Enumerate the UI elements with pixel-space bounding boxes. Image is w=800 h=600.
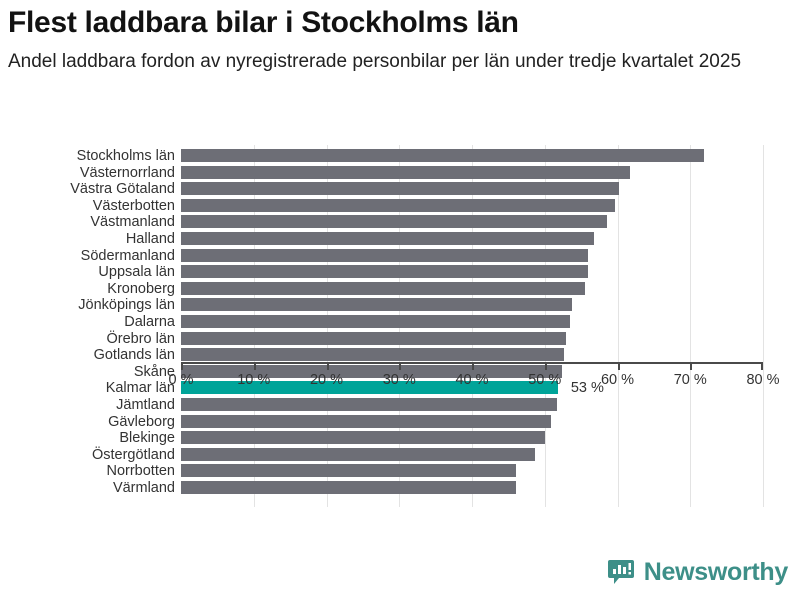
- x-axis-tick-label: 30 %: [383, 372, 416, 388]
- x-axis-tick: [690, 362, 692, 370]
- bar-kronoberg[interactable]: [181, 282, 585, 295]
- x-axis-tick-label: 50 %: [528, 372, 561, 388]
- bar-södermanland[interactable]: [181, 249, 588, 262]
- y-axis-label: Blekinge: [0, 430, 175, 446]
- y-axis-label: Uppsala län: [0, 264, 175, 280]
- y-axis-label: Södermanland: [0, 248, 175, 264]
- x-axis-tick: [327, 362, 329, 370]
- y-axis-label: Skåne: [0, 364, 175, 380]
- chart-plot-area: Stockholms länVästernorrlandVästra Götal…: [0, 145, 800, 545]
- y-axis-label: Västerbotten: [0, 198, 175, 214]
- y-axis-label: Kronoberg: [0, 281, 175, 297]
- bar-gävleborg[interactable]: [181, 415, 551, 428]
- y-axis-label: Halland: [0, 231, 175, 247]
- chart-header: Flest laddbara bilar i Stockholms län An…: [8, 6, 798, 75]
- bar-örebro-län[interactable]: [181, 332, 566, 345]
- x-axis-tick: [472, 362, 474, 370]
- x-axis-tick-label: 40 %: [455, 372, 488, 388]
- bar-stockholms-län[interactable]: [181, 149, 704, 162]
- bar-jönköpings-län[interactable]: [181, 298, 572, 311]
- bar-uppsala-län[interactable]: [181, 265, 588, 278]
- y-axis-label: Värmland: [0, 480, 175, 496]
- y-axis-label: Kalmar län: [0, 380, 175, 396]
- y-axis-label: Västra Götaland: [0, 181, 175, 197]
- x-axis-tick-label: 80 %: [746, 372, 779, 388]
- chart-page: Flest laddbara bilar i Stockholms län An…: [0, 0, 800, 600]
- x-axis-tick-label: 10 %: [237, 372, 270, 388]
- x-axis-tick-label: 60 %: [601, 372, 634, 388]
- bar-västmanland[interactable]: [181, 215, 607, 228]
- bar-chart-speech-bubble-icon: [607, 558, 635, 586]
- x-axis-tick-label: 70 %: [674, 372, 707, 388]
- y-axis-label: Norrbotten: [0, 463, 175, 479]
- bar-gotlands-län[interactable]: [181, 348, 564, 361]
- bars-container: 53 %: [181, 145, 763, 507]
- gridline: [690, 145, 691, 507]
- y-axis-labels: Stockholms länVästernorrlandVästra Götal…: [0, 145, 175, 507]
- newsworthy-logo: Newsworthy: [607, 558, 788, 586]
- x-axis-tick: [399, 362, 401, 370]
- bar-östergötland[interactable]: [181, 448, 535, 461]
- x-axis-tick: [618, 362, 620, 370]
- bar-jämtland[interactable]: [181, 398, 557, 411]
- y-axis-label: Gävleborg: [0, 414, 175, 430]
- page-title: Flest laddbara bilar i Stockholms län: [8, 6, 798, 40]
- gridline: [618, 145, 619, 507]
- bar-västra-götaland[interactable]: [181, 182, 619, 195]
- y-axis-label: Västmanland: [0, 214, 175, 230]
- chart-subtitle: Andel laddbara fordon av nyregistrerade …: [8, 48, 798, 75]
- x-axis-tick: [761, 362, 763, 370]
- bar-blekinge[interactable]: [181, 431, 545, 444]
- x-axis-tick: [181, 362, 183, 370]
- x-axis-tick-label: 20 %: [310, 372, 343, 388]
- gridline: [763, 145, 764, 507]
- bar-dalarna[interactable]: [181, 315, 570, 328]
- x-axis-tick: [545, 362, 547, 370]
- bar-halland[interactable]: [181, 232, 594, 245]
- bar-norrbotten[interactable]: [181, 464, 516, 477]
- bar-value-label: 53 %: [571, 382, 604, 395]
- y-axis-label: Stockholms län: [0, 148, 175, 164]
- y-axis-label: Gotlands län: [0, 347, 175, 363]
- bar-västernorrland[interactable]: [181, 166, 630, 179]
- bar-värmland[interactable]: [181, 481, 516, 494]
- y-axis-label: Dalarna: [0, 314, 175, 330]
- bar-västerbotten[interactable]: [181, 199, 615, 212]
- x-axis-tick-label: 0 %: [169, 372, 194, 388]
- x-axis-tick: [254, 362, 256, 370]
- y-axis-label: Östergötland: [0, 447, 175, 463]
- y-axis-label: Västernorrland: [0, 165, 175, 181]
- y-axis-label: Jämtland: [0, 397, 175, 413]
- y-axis-label: Jönköpings län: [0, 297, 175, 313]
- y-axis-label: Örebro län: [0, 331, 175, 347]
- logo-wordmark: Newsworthy: [644, 560, 788, 585]
